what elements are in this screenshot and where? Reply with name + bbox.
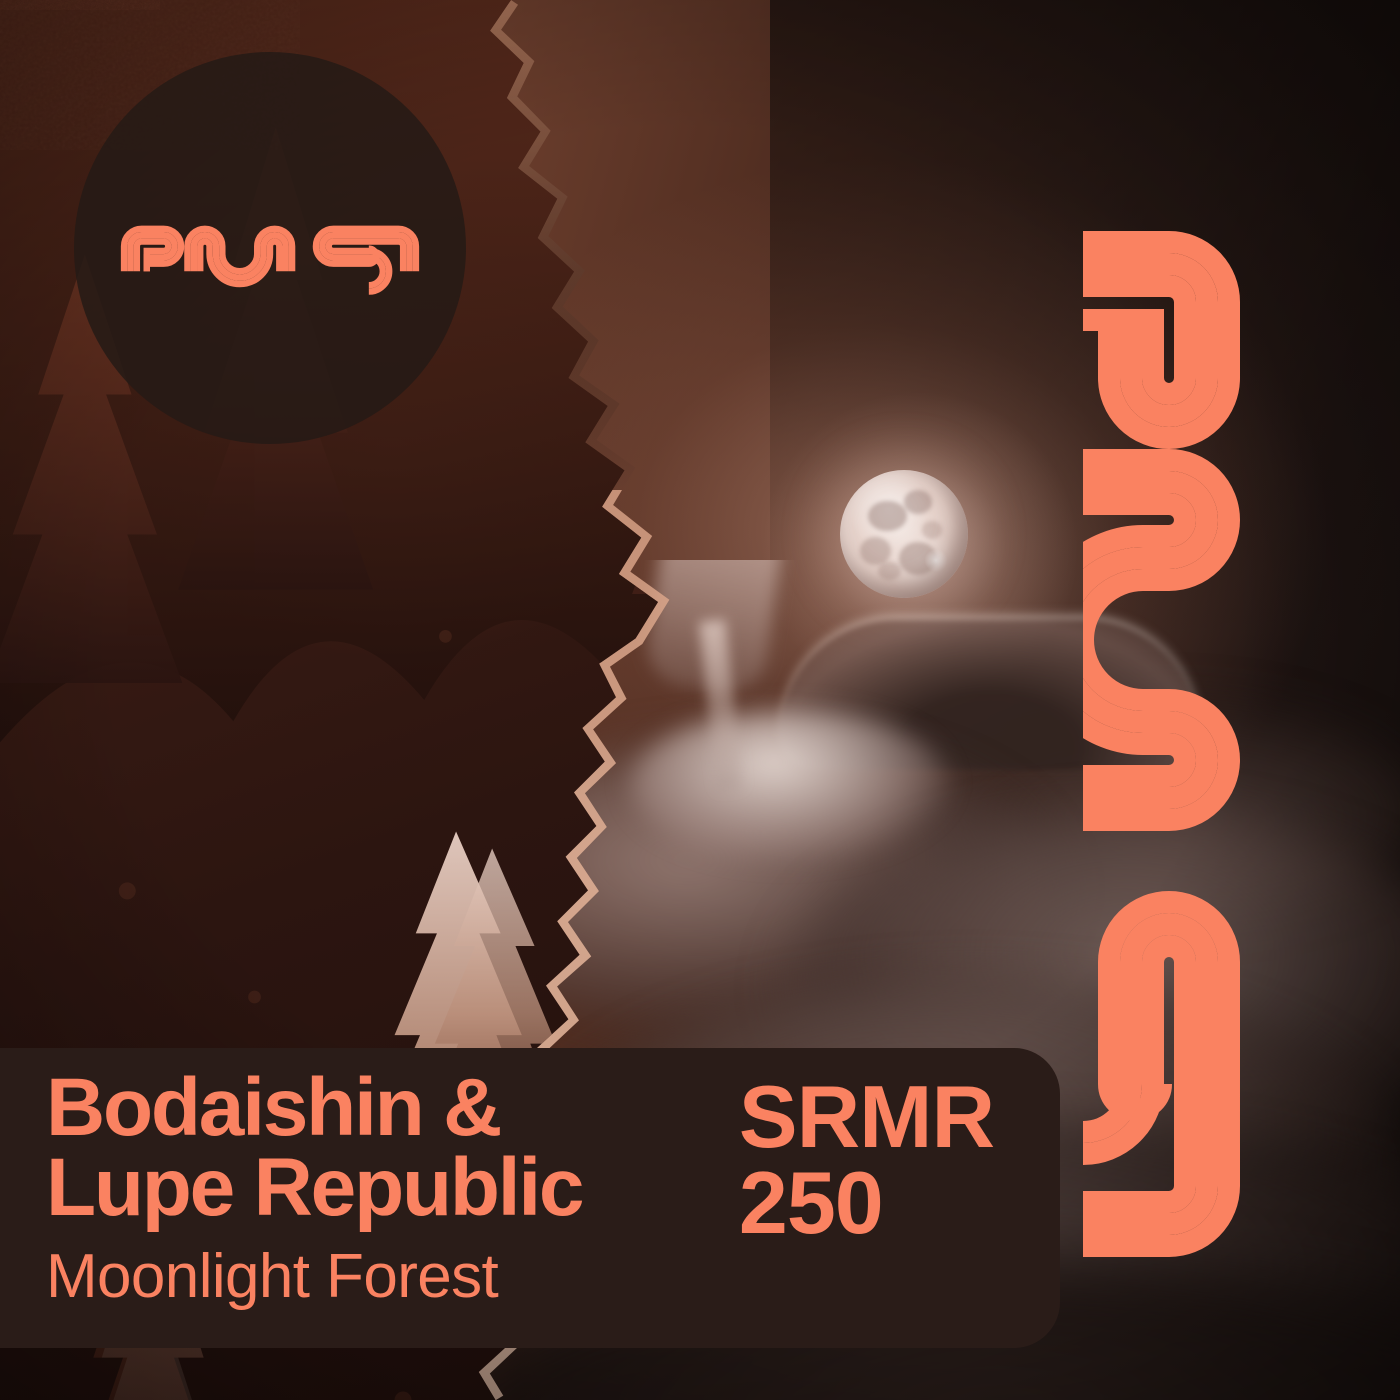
release-titles: Bodaishin & Lupe Republic Moonlight Fore…	[0, 1048, 739, 1308]
track-title: Moonlight Forest	[46, 1245, 739, 1308]
rms-logo-vertical[interactable]	[1083, 228, 1243, 1260]
catalog-prefix: SRMR	[739, 1074, 994, 1160]
rms-logo-badge[interactable]	[74, 52, 466, 444]
artist-name: Bodaishin & Lupe Republic	[46, 1068, 739, 1229]
rms-wordmark-vertical-icon	[1083, 228, 1243, 1260]
catalog-number: 250	[739, 1160, 994, 1246]
rms-wordmark-icon	[120, 196, 420, 300]
album-cover: Bodaishin & Lupe Republic Moonlight Fore…	[0, 0, 1400, 1400]
artist-line-1: Bodaishin &	[46, 1062, 500, 1153]
artist-line-2: Lupe Republic	[46, 1148, 739, 1228]
release-info-panel: Bodaishin & Lupe Republic Moonlight Fore…	[0, 1048, 1060, 1348]
catalog-number-block: SRMR 250	[739, 1048, 1060, 1246]
